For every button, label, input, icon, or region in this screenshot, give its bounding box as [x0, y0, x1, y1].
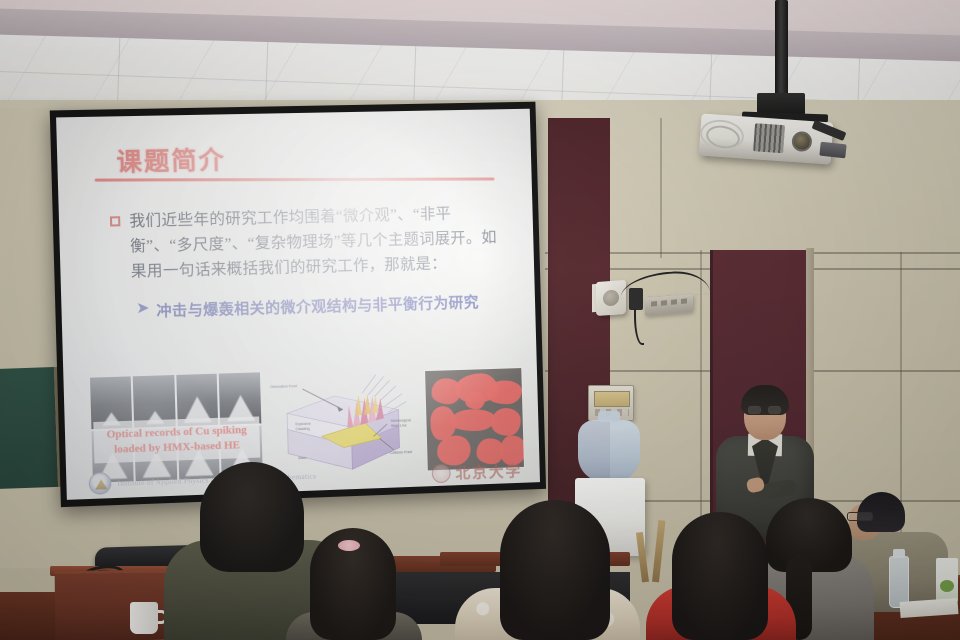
svg-text:Base: Base: [298, 456, 306, 460]
attendee-hair: [200, 462, 304, 572]
slide-main-bullet: 我们近些年的研究工作均围着“微介观”、“非平衡”、“多尺度”、“复杂物理场”等几…: [110, 200, 511, 285]
slide-sub-bullet-text: 冲击与爆轰相关的微介观结构与非平衡行为研究: [156, 291, 479, 321]
green-package[interactable]: [936, 558, 958, 602]
slide-title-underline: [95, 178, 495, 182]
water-bottle-jug: [578, 420, 640, 482]
attendee-hair: [672, 512, 768, 640]
svg-text:Weld Line: Weld Line: [391, 423, 407, 427]
slide-body-text: 我们近些年的研究工作均围着“微介观”、“非平衡”、“多尺度”、“复杂物理场”等几…: [129, 200, 511, 285]
projector-lens: [791, 131, 812, 152]
svg-text:Collision Point: Collision Point: [390, 450, 413, 455]
slide-title: 课题简介: [116, 135, 508, 179]
svg-text:Cladding: Cladding: [295, 427, 309, 431]
pink-hair-tie: [338, 540, 360, 551]
figure-explosive-welding-diagram: Detonation Front Explosive Cladding Base…: [268, 363, 420, 476]
university-watermark: 北京大学: [432, 460, 523, 484]
optical-caption: Optical records of Cu spiking loaded by …: [93, 416, 260, 464]
projection-screen-frame: 课题简介 我们近些年的研究工作均围着“微介观”、“非平衡”、“多尺度”、“复杂物…: [50, 102, 546, 507]
blackboard: [0, 367, 62, 489]
white-mug[interactable]: [130, 602, 158, 634]
university-watermark-text: 北京大学: [455, 460, 522, 483]
projector-connector: [819, 142, 846, 159]
water-bottle[interactable]: [889, 556, 909, 608]
thermostat-display: [594, 391, 630, 407]
presenter-glasses-icon: [748, 406, 782, 414]
projection-screen: 课题简介 我们近些年的研究工作均围着“微介观”、“非平衡”、“多尺度”、“复杂物…: [56, 109, 540, 500]
wall-vertical-seam-3: [660, 118, 662, 258]
slide-sub-bullet: ➤ 冲击与爆轰相关的微介观结构与非平衡行为研究: [137, 291, 512, 323]
institute-seal-icon: [89, 472, 112, 495]
power-adapter: [629, 288, 643, 310]
welding-diagram-svg: Detonation Front Explosive Cladding Base…: [268, 363, 420, 476]
lecture-hall-scene: 课题简介 我们近些年的研究工作均围着“微介观”、“非平衡”、“多尺度”、“复杂物…: [0, 0, 960, 640]
wall-vertical-seam-1: [700, 250, 702, 550]
figure-simulation-mixing: [425, 368, 524, 470]
university-seal-icon: [432, 464, 451, 484]
slide-content: 课题简介 我们近些年的研究工作均围着“微介观”、“非平衡”、“多尺度”、“复杂物…: [56, 109, 540, 500]
svg-text:Explosive: Explosive: [295, 422, 310, 426]
svg-text:Metallurgical: Metallurgical: [391, 418, 411, 423]
svg-text:Detonation Front: Detonation Front: [270, 384, 297, 389]
projector-mount-pole: [775, 0, 788, 95]
projector-vent: [753, 123, 785, 153]
seated-attendee-glasses-icon: [847, 512, 873, 521]
square-bullet-icon: [110, 216, 120, 226]
arrow-bullet-icon: ➤: [137, 301, 150, 320]
attendee-hair: [500, 500, 610, 640]
